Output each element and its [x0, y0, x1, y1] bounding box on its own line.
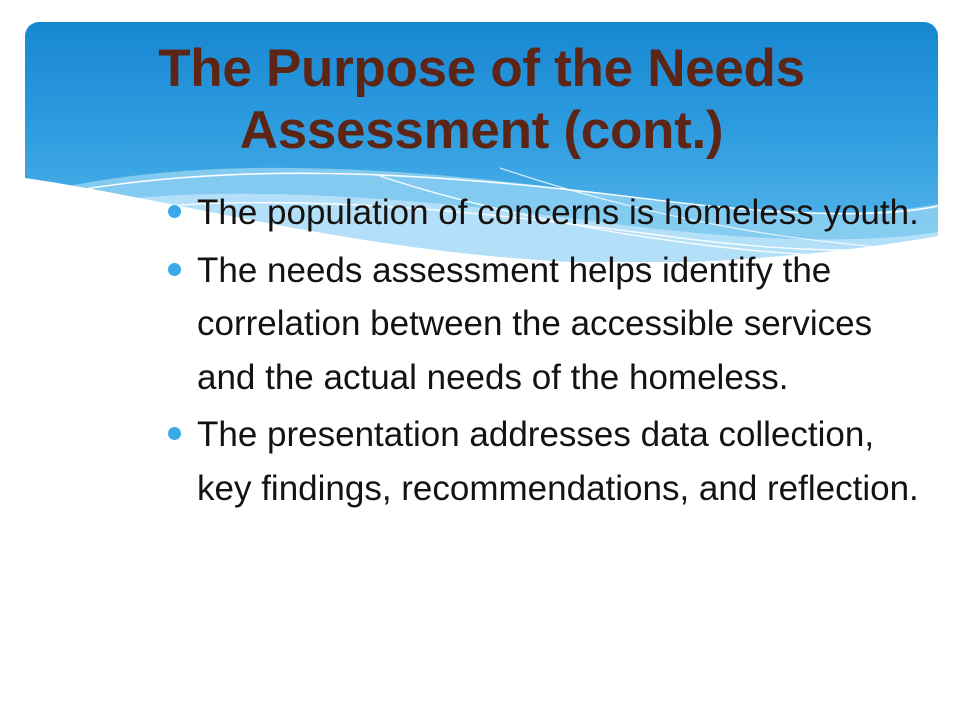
list-item-text: The presentation addresses data collecti…: [197, 415, 919, 508]
filled-circle-bullet-icon: [168, 205, 181, 218]
slide-canvas: The Purpose of the Needs Assessment (con…: [0, 0, 960, 720]
list-item-text: The population of concerns is homeless y…: [197, 193, 919, 232]
list-item: The population of concerns is homeless y…: [0, 186, 960, 240]
list-item: The needs assessment helps identify the …: [0, 244, 960, 405]
filled-circle-bullet-icon: [168, 263, 181, 276]
list-item: The presentation addresses data collecti…: [0, 408, 960, 515]
filled-circle-bullet-icon: [168, 427, 181, 440]
list-item-text: The needs assessment helps identify the …: [197, 251, 872, 397]
page-title: The Purpose of the Needs Assessment (con…: [25, 38, 938, 162]
bullet-list: The population of concerns is homeless y…: [0, 186, 960, 519]
